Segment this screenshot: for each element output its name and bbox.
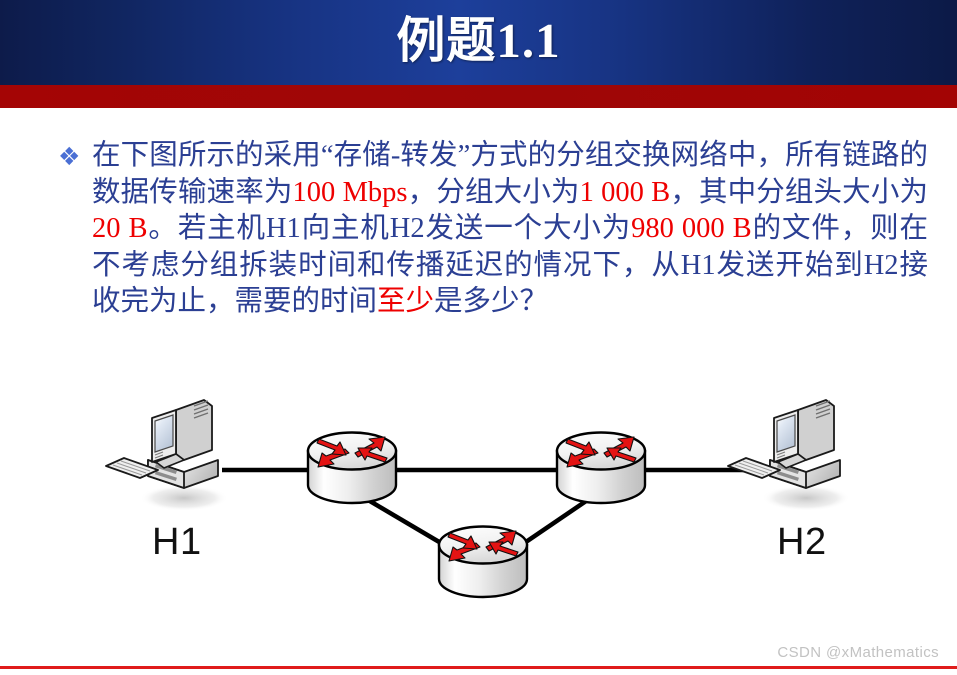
csdn-watermark: CSDN @xMathematics bbox=[777, 644, 939, 661]
link-r3-r2 bbox=[520, 497, 592, 546]
paragraph-segment-5: 20 B bbox=[92, 213, 148, 244]
router-icon-r1 bbox=[308, 433, 396, 504]
question-paragraph: 在下图所示的采用“存储-转发”方式的分组交换网络中，所有链路的数据传输速率为10… bbox=[92, 138, 928, 321]
paragraph-segment-7: 980 000 B bbox=[631, 213, 752, 244]
footer-rule bbox=[0, 666, 957, 669]
paragraph-segment-9: 至少 bbox=[377, 286, 434, 317]
host-label-h1: H1 bbox=[152, 521, 202, 564]
content-block: ❖ 在下图所示的采用“存储-转发”方式的分组交换网络中，所有链路的数据传输速率为… bbox=[58, 138, 928, 321]
paragraph-segment-3: 1 000 B bbox=[580, 177, 671, 208]
paragraph-segment-4: ，其中分组头大小为 bbox=[670, 177, 928, 208]
title-accent-bar bbox=[0, 85, 957, 108]
page-title: 例题1.1 bbox=[0, 0, 957, 85]
host-label-h2: H2 bbox=[777, 521, 827, 564]
desktop-computer-icon-h2 bbox=[728, 400, 850, 511]
router-icon-r3 bbox=[439, 527, 527, 598]
paragraph-segment-10: 是多少？ bbox=[434, 286, 548, 317]
paragraph-segment-2: ，分组大小为 bbox=[408, 177, 580, 208]
paragraph-segment-1: 100 Mbps bbox=[293, 177, 408, 208]
router-icon-r2 bbox=[557, 433, 645, 504]
desktop-computer-icon-h1 bbox=[106, 400, 228, 511]
diamond-bullet-icon: ❖ bbox=[58, 144, 86, 169]
link-r1-r3 bbox=[363, 497, 446, 546]
paragraph-segment-6: 。若主机H1向主机H2发送一个大小为 bbox=[148, 213, 632, 244]
